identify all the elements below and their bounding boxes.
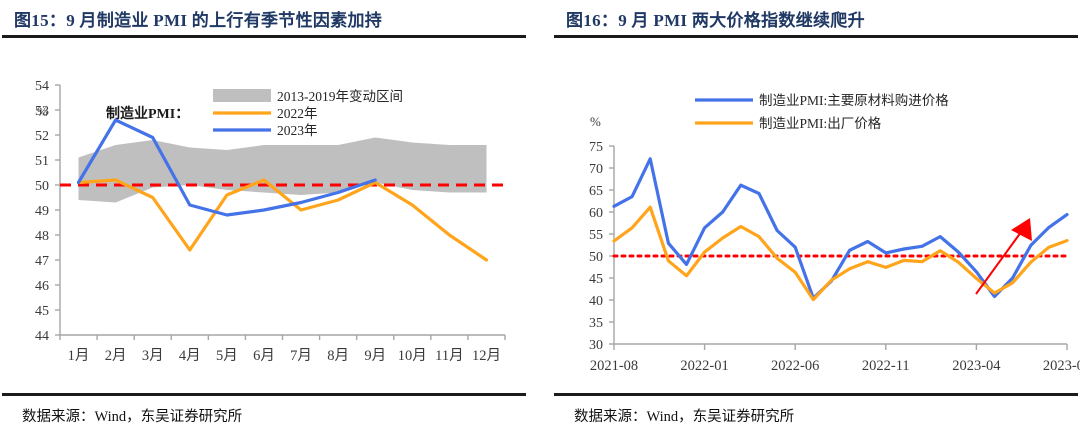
y-tick-label: 46 xyxy=(35,279,49,294)
y-tick-label: 50 xyxy=(35,179,49,194)
figure-panel-15: 图15：9 月制造业 PMI 的上行有季节性因素加持 制造业PMI： 2013-… xyxy=(0,0,528,443)
y-tick-label: 48 xyxy=(35,229,49,244)
legend-label-materials: 制造业PMI:主要原材料购进价格 xyxy=(759,93,949,108)
figures-container: 图15：9 月制造业 PMI 的上行有季节性因素加持 制造业PMI： 2013-… xyxy=(0,0,1080,443)
chart-16-svg: 制造业PMI:主要原材料购进价格 制造业PMI:出厂价格 % xyxy=(552,38,1080,393)
x-tick-label: 4月 xyxy=(179,348,201,364)
y-tick-label: 44 xyxy=(35,329,49,344)
x-tick-label: 2021-08 xyxy=(590,358,638,374)
y-tick-label: 35 xyxy=(589,316,603,331)
y-tick-label: 52 xyxy=(35,129,49,144)
x-tick-label: 2022-06 xyxy=(771,358,819,374)
legend-swatch-band xyxy=(213,89,271,102)
x-tick-label: 6月 xyxy=(253,348,275,364)
y-tick-label: 55 xyxy=(589,228,603,243)
y-tick-label: 45 xyxy=(589,272,603,287)
x-tick-label: 2023-09 xyxy=(1043,358,1080,374)
chart-15-svg: 制造业PMI： 2013-2019年变动区间 2022年 2023年 % xyxy=(0,38,528,393)
y-tick-label: 49 xyxy=(35,204,49,219)
figure-16-title: 图16：9 月 PMI 两大价格指数继续爬升 xyxy=(552,0,1080,35)
x-tick-label: 2022-11 xyxy=(862,358,910,374)
legend-label-band: 2013-2019年变动区间 xyxy=(277,89,403,104)
y-tick-label: 47 xyxy=(35,254,49,269)
y-tick-label: 30 xyxy=(589,338,603,353)
x-tick-label: 8月 xyxy=(327,348,349,364)
chart-16-series-group xyxy=(614,159,1067,300)
x-tick-label: 11月 xyxy=(435,348,463,364)
x-tick-label: 3月 xyxy=(142,348,164,364)
chart-15-series-group xyxy=(60,120,507,260)
series-line-ex-factory-price xyxy=(614,207,1067,299)
x-ticks-16: 2021-082022-012022-062022-112023-042023-… xyxy=(590,344,1080,374)
x-tick-label: 7月 xyxy=(290,348,312,364)
x-tick-label: 12月 xyxy=(472,348,501,364)
legend-label-exfactory: 制造业PMI:出厂价格 xyxy=(759,116,882,131)
legend-label-2022: 2022年 xyxy=(277,106,318,121)
x-tick-label: 5月 xyxy=(216,348,238,364)
legend-label-2023: 2023年 xyxy=(277,123,318,138)
x-tick-label: 9月 xyxy=(364,348,386,364)
legend-prefix-label: 制造业PMI： xyxy=(106,105,189,122)
y-tick-label: 40 xyxy=(589,294,603,309)
y-tick-label: 54 xyxy=(35,79,49,94)
y-axis-unit-16: % xyxy=(590,114,601,129)
figure-16-source: 数据来源：Wind，东吴证券研究所 xyxy=(552,400,1080,426)
y-tick-label: 60 xyxy=(589,206,603,221)
x-tick-label: 10月 xyxy=(398,348,427,364)
x-ticks-15: 1月2月3月4月5月6月7月8月9月10月11月12月 xyxy=(60,335,505,364)
y-tick-label: 45 xyxy=(35,304,49,319)
series-line-materials-purchase-price xyxy=(614,159,1067,298)
y-tick-label: 70 xyxy=(589,162,603,177)
x-tick-label: 2022-01 xyxy=(680,358,728,374)
source-divider xyxy=(554,393,1078,396)
x-tick-label: 2023-04 xyxy=(952,358,1001,374)
figure-15-source: 数据来源：Wind，东吴证券研究所 xyxy=(0,400,528,426)
y-tick-label: 53 xyxy=(35,104,49,119)
y-tick-label: 75 xyxy=(589,140,603,155)
x-tick-label: 1月 xyxy=(68,348,90,364)
y-tick-label: 65 xyxy=(589,184,603,199)
figure-15-plot: 制造业PMI： 2013-2019年变动区间 2022年 2023年 % xyxy=(0,38,528,393)
y-tick-label: 50 xyxy=(589,250,603,265)
y-tick-label: 51 xyxy=(35,154,49,169)
y-ticks-15: 54 53 52 51 50 49 48 47 46 45 44 xyxy=(35,79,60,344)
figure-16-plot: 制造业PMI:主要原材料购进价格 制造业PMI:出厂价格 % xyxy=(552,38,1080,393)
figure-15-title: 图15：9 月制造业 PMI 的上行有季节性因素加持 xyxy=(0,0,528,35)
figure-panel-16: 图16：9 月 PMI 两大价格指数继续爬升 制造业PMI:主要原材料购进价格 … xyxy=(552,0,1080,443)
x-tick-label: 2月 xyxy=(105,348,127,364)
source-divider xyxy=(2,393,526,396)
y-ticks-16: 75 70 65 60 55 50 45 40 35 30 xyxy=(589,140,614,353)
